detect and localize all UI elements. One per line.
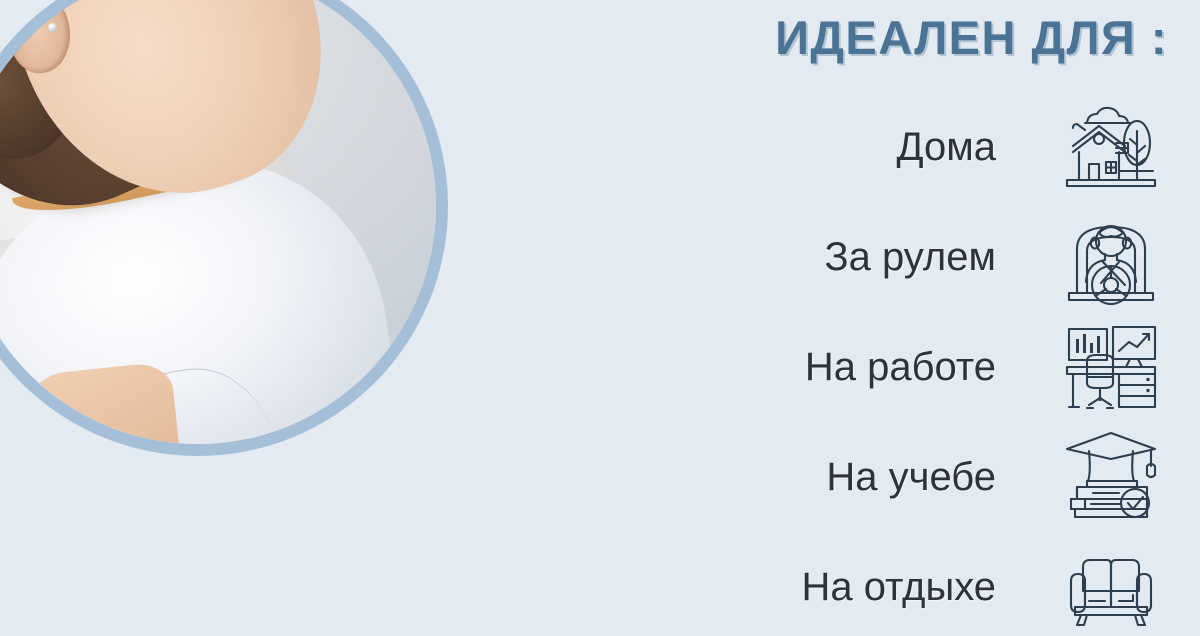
graduation-books-icon — [1058, 429, 1164, 525]
page-title: ИДЕАЛЕН ДЛЯ : — [775, 10, 1168, 65]
product-photo — [0, 0, 436, 444]
driver-steering-wheel-icon — [1058, 209, 1164, 305]
promo-banner: ИДЕАЛЕН ДЛЯ : Дома — [0, 0, 1200, 636]
sofa-icon — [1058, 539, 1164, 635]
list-item-label: За рулем — [824, 235, 996, 280]
benefits-panel: ИДЕАЛЕН ДЛЯ : Дома — [460, 0, 1200, 636]
list-item-label: На отдыхе — [802, 565, 997, 610]
list-item-label: На учебе — [826, 455, 996, 500]
house-tree-icon — [1058, 99, 1164, 195]
list-item-work: На работе — [460, 312, 1164, 422]
list-item-driving: За рулем — [460, 202, 1164, 312]
use-case-list: Дома — [460, 92, 1164, 636]
list-item-home: Дома — [460, 92, 1164, 202]
list-item-study: На учебе — [460, 422, 1164, 532]
list-item-rest: На отдыхе — [460, 532, 1164, 636]
earring — [48, 23, 57, 32]
list-item-label: Дома — [896, 125, 996, 170]
list-item-label: На работе — [805, 345, 996, 390]
office-desk-icon — [1058, 319, 1164, 415]
product-photo-circle — [0, 0, 448, 456]
